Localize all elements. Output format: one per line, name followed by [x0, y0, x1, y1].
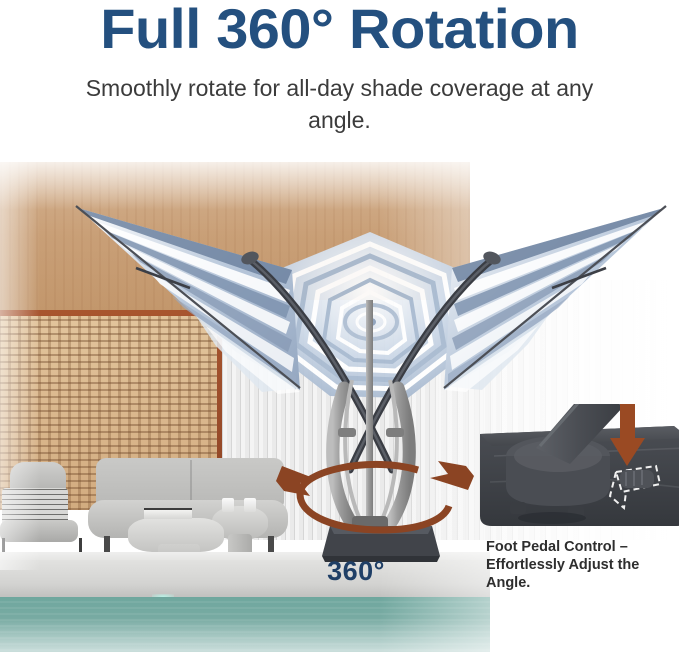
rotation-arrow-head-right [430, 461, 474, 490]
product-feature-graphic: 360° [0, 0, 679, 652]
header-banner: Full 360° Rotation Smoothly rotate for a… [0, 0, 679, 162]
page-subtitle: Smoothly rotate for all-day shade covera… [60, 72, 619, 136]
page-title: Full 360° Rotation [0, 0, 679, 61]
rotation-degree-label: 360° [296, 556, 416, 587]
foot-pedal [620, 470, 654, 488]
foot-pedal-caption: Foot Pedal Control – Effortlessly Adjust… [486, 538, 651, 592]
foot-pedal-inset-image [474, 404, 679, 532]
